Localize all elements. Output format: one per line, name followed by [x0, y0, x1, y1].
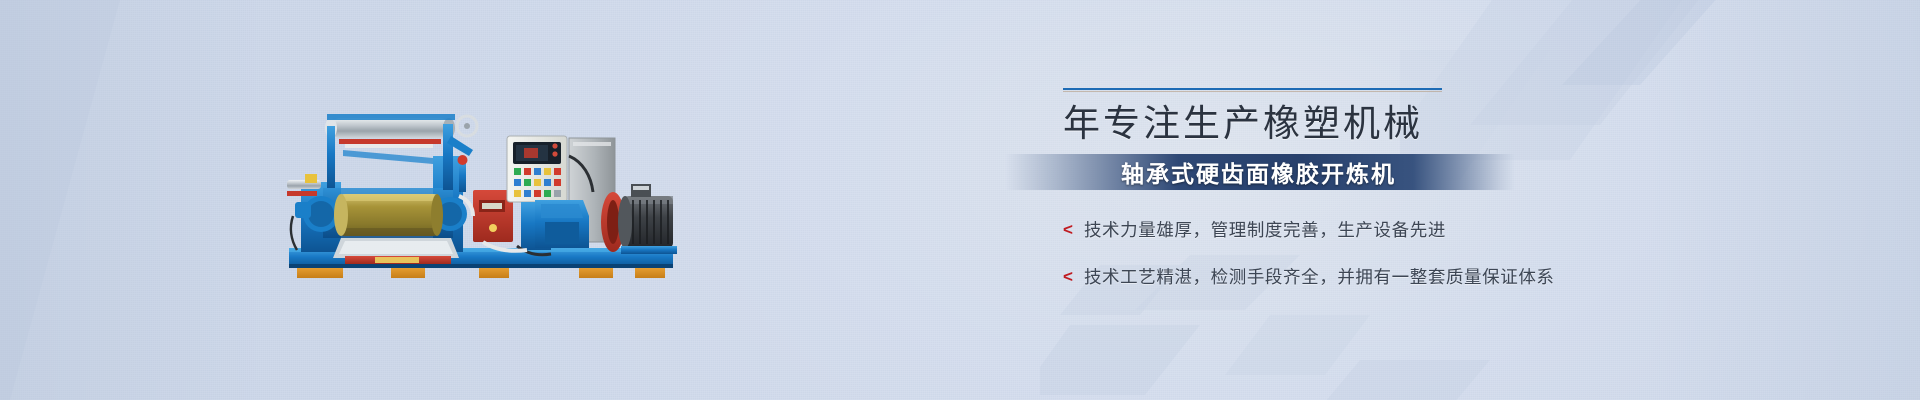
product-photo-rubber-mill [283, 96, 703, 284]
page-title: 年专注生产橡塑机械 [1063, 103, 1703, 147]
product-name-label: 轴承式硬齿面橡胶开炼机 [1121, 155, 1396, 189]
list-item: < 技术工艺精湛，检测手段齐全，并拥有一整套质量保证体系 [1063, 264, 1703, 289]
rule-gold-line [1063, 91, 1442, 92]
banner-copy: 年专注生产橡塑机械 轴承式硬齿面橡胶开炼机 < 技术力量雄厚，管理制度完善，生产… [1063, 88, 1703, 289]
product-name-ribbon: 轴承式硬齿面橡胶开炼机 [1005, 154, 1515, 190]
bullet-text: 技术力量雄厚，管理制度完善，生产设备先进 [1084, 217, 1446, 242]
chevron-left-icon: < [1063, 268, 1073, 285]
chevron-left-icon: < [1063, 221, 1073, 238]
feature-bullet-list: < 技术力量雄厚，管理制度完善，生产设备先进 < 技术工艺精湛，检测手段齐全，并… [1063, 217, 1703, 289]
machine-illustration [283, 96, 703, 284]
list-item: < 技术力量雄厚，管理制度完善，生产设备先进 [1063, 217, 1703, 242]
promo-banner: 年专注生产橡塑机械 轴承式硬齿面橡胶开炼机 < 技术力量雄厚，管理制度完善，生产… [0, 0, 1920, 400]
bullet-text: 技术工艺精湛，检测手段齐全，并拥有一整套质量保证体系 [1084, 264, 1555, 289]
left-edge-wedge [0, 0, 260, 400]
rule-blue-line [1063, 88, 1442, 90]
headline-rules [1063, 88, 1442, 96]
